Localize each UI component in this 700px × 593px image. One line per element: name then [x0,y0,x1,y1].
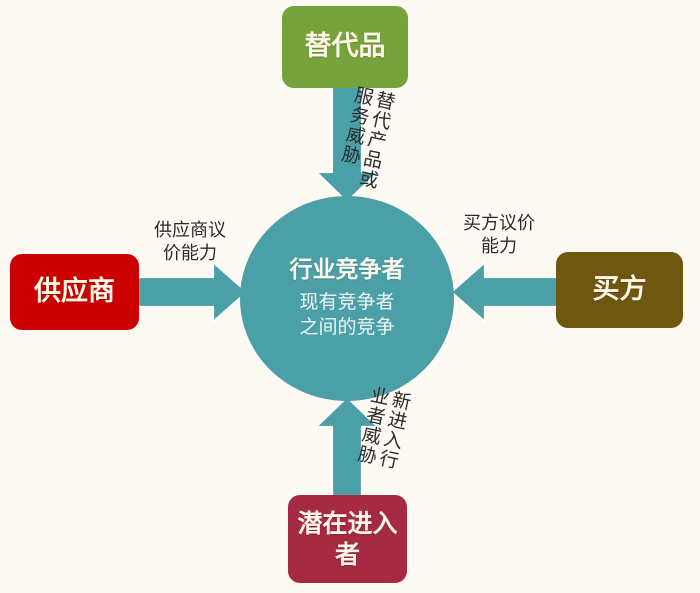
porters-five-forces-diagram: 行业竞争者 现有竞争者 之间的竞争 替代品 供应商 买方 潜在进入者 供应商议 … [0,0,700,593]
node-buyers-label: 买方 [556,273,683,307]
node-substitutes-label: 替代品 [282,30,408,64]
center-node-subtitle-line-1: 现有竞争者 [299,290,394,315]
edge-label-buyer-bargaining-power-line-1: 买方议价 [446,212,552,235]
arrow-suppliers-to-center [138,262,247,322]
node-suppliers[interactable]: 供应商 [10,254,139,330]
center-node-subtitle-line-2: 之间的竞争 [299,315,394,340]
node-potential-entrants-label: 潜在进入者 [288,508,407,571]
edge-label-supplier-bargaining-power: 供应商议 价能力 [136,219,244,265]
edge-label-buyer-bargaining-power: 买方议价 能力 [446,212,552,258]
edge-label-supplier-bargaining-power-line-1: 供应商议 [136,219,244,242]
node-buyers[interactable]: 买方 [556,252,683,328]
node-substitutes[interactable]: 替代品 [282,6,408,88]
center-node-title: 行业竞争者 [277,256,417,285]
node-potential-entrants[interactable]: 潜在进入者 [288,495,407,583]
edge-label-buyer-bargaining-power-line-2: 能力 [446,235,552,258]
arrow-buyers-to-center [451,262,558,322]
center-node-industry-competitors: 行业竞争者 现有竞争者 之间的竞争 [240,196,454,401]
edge-label-supplier-bargaining-power-line-2: 价能力 [136,242,244,265]
node-suppliers-label: 供应商 [10,275,139,309]
